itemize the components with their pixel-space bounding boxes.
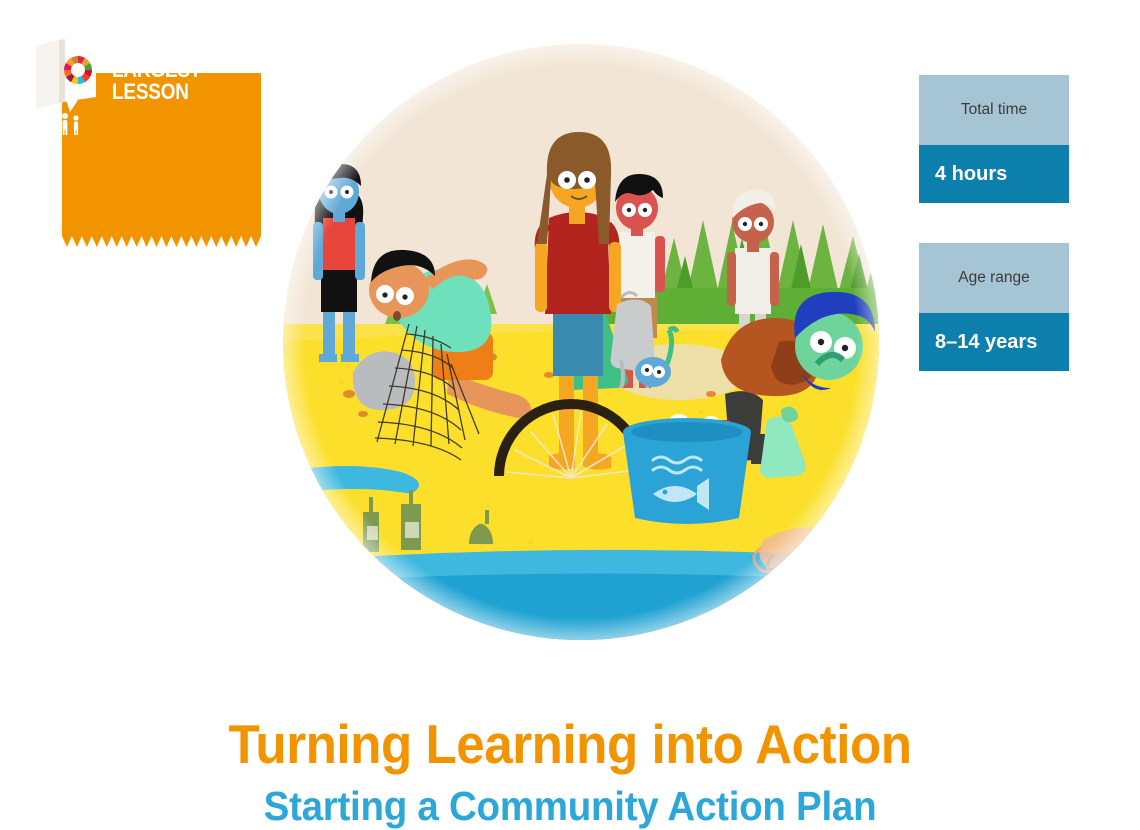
age-range-label: Age range bbox=[919, 243, 1069, 313]
info-box-age-range: Age range 8–14 years bbox=[919, 243, 1069, 371]
page-subtitle: Starting a Community Action Plan bbox=[34, 783, 1106, 830]
beach-cleanup-illustration bbox=[281, 42, 881, 642]
logo-line-2: LARGEST bbox=[112, 59, 184, 82]
logo-line-1: WORLD'S bbox=[112, 36, 184, 59]
open-book-with-sdg-wheel-icon bbox=[32, 30, 104, 135]
page-title: Turning Learning into Action bbox=[40, 712, 1100, 776]
logo-zigzag-edge bbox=[62, 236, 261, 247]
age-range-value: 8–14 years bbox=[919, 313, 1069, 371]
total-time-value: 4 hours bbox=[919, 145, 1069, 203]
total-time-label: Total time bbox=[919, 75, 1069, 145]
logo-wordmark: WORLD'S LARGEST LESSON bbox=[112, 36, 184, 104]
info-box-total-time: Total time 4 hours bbox=[919, 75, 1069, 203]
logo-line-3: LESSON bbox=[112, 81, 184, 104]
